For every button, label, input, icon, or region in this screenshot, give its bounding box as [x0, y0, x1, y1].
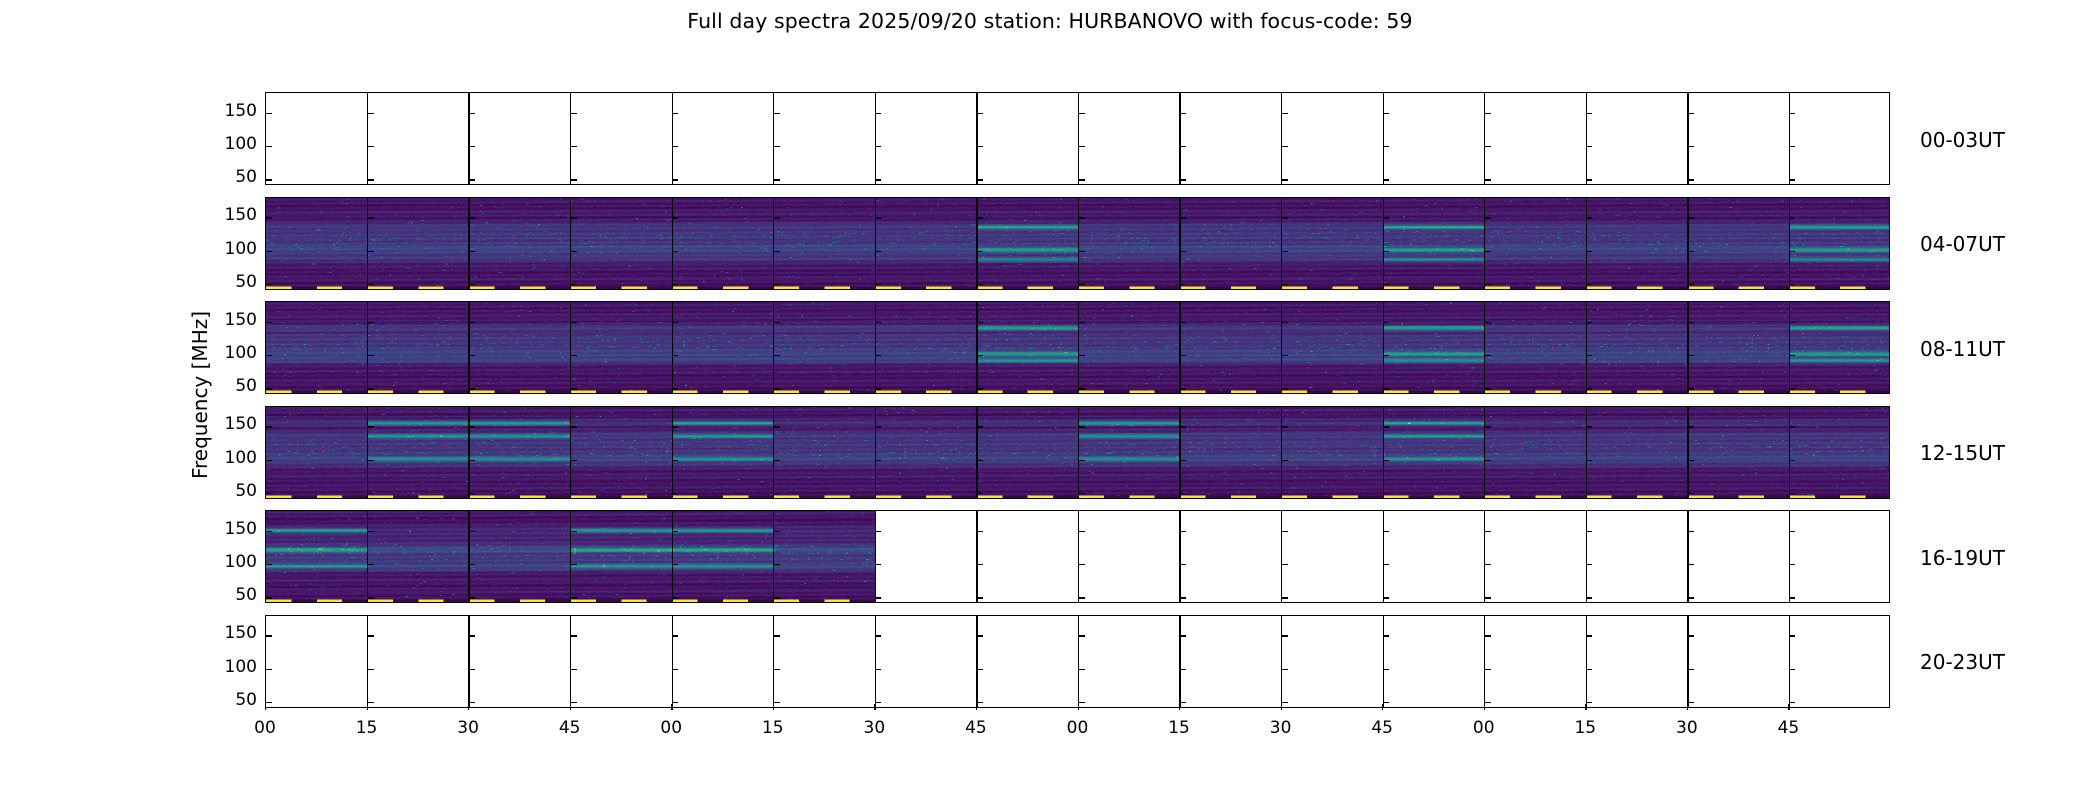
column-separator [1078, 93, 1079, 184]
y-tick-label: 100 [197, 659, 257, 676]
column-separator [367, 616, 368, 707]
y-tick-mark [571, 597, 577, 598]
y-tick-mark [1079, 355, 1085, 356]
y-tick-label: 50 [197, 169, 257, 186]
x-tick-label: 30 [844, 718, 904, 738]
column-separator [1179, 616, 1180, 707]
y-tick-mark [368, 388, 374, 389]
y-tick-label: 100 [197, 241, 257, 258]
y-tick-mark [1282, 635, 1288, 636]
column-separator [1383, 511, 1384, 602]
y-tick-mark [1383, 635, 1389, 636]
y-tick-mark [1079, 322, 1085, 323]
y-tick-mark [1282, 113, 1288, 114]
y-tick-label: 100 [197, 450, 257, 467]
x-tick-label: 15 [337, 718, 397, 738]
y-tick-mark [1586, 388, 1592, 389]
y-tick-mark [1079, 564, 1085, 565]
y-tick-mark [1383, 355, 1389, 356]
y-tick-mark [672, 702, 678, 703]
column-separator [468, 616, 469, 707]
y-tick-mark [1485, 426, 1491, 427]
y-tick-mark [1180, 564, 1186, 565]
y-tick-mark [875, 217, 881, 218]
y-tick-mark [1688, 702, 1694, 703]
y-tick-mark [1079, 388, 1085, 389]
y-tick-mark [1180, 322, 1186, 323]
y-tick-mark [1383, 531, 1389, 532]
column-separator [976, 616, 977, 707]
y-tick-mark [1789, 493, 1795, 494]
y-tick-mark [1789, 426, 1795, 427]
y-tick-mark [469, 251, 475, 252]
column-separator [1078, 616, 1079, 707]
y-tick-mark [1180, 531, 1186, 532]
y-tick-mark [1789, 284, 1795, 285]
y-tick-label: 50 [197, 274, 257, 291]
y-tick-mark [1688, 597, 1694, 598]
x-tick-mark [1585, 704, 1586, 710]
spectrogram-row-20-23ut [265, 615, 1890, 708]
y-tick-mark [1586, 217, 1592, 218]
y-tick-mark [1586, 702, 1592, 703]
y-tick-mark [977, 597, 983, 598]
y-tick-mark [1282, 669, 1288, 670]
y-tick-mark [266, 493, 272, 494]
y-tick-mark [1789, 635, 1795, 636]
spectrogram-row-16-19ut [265, 510, 1890, 603]
y-tick-mark [266, 702, 272, 703]
y-tick-mark [875, 702, 881, 703]
y-tick-mark [266, 564, 272, 565]
y-tick-mark [1282, 146, 1288, 147]
y-tick-mark [1180, 251, 1186, 252]
x-tick-mark [1078, 704, 1079, 710]
y-tick-mark [1789, 597, 1795, 598]
column-separator [1383, 407, 1384, 498]
y-tick-mark [1079, 702, 1085, 703]
column-separator [1687, 407, 1688, 498]
y-tick-mark [1688, 460, 1694, 461]
y-tick-mark [672, 113, 678, 114]
y-tick-mark [469, 179, 475, 180]
y-tick-mark [1688, 179, 1694, 180]
y-tick-label: 150 [197, 625, 257, 642]
y-tick-mark [1586, 635, 1592, 636]
y-tick-mark [1282, 531, 1288, 532]
column-separator [1687, 198, 1688, 289]
y-tick-mark [1586, 564, 1592, 565]
y-tick-mark [469, 426, 475, 427]
y-tick-mark [571, 493, 577, 494]
y-tick-mark [1282, 284, 1288, 285]
column-separator [367, 302, 368, 393]
x-tick-label: 30 [1657, 718, 1717, 738]
column-separator [570, 302, 571, 393]
x-tick-mark [367, 704, 368, 710]
column-separator [367, 407, 368, 498]
x-tick-mark [671, 704, 672, 710]
y-tick-mark [672, 284, 678, 285]
y-tick-mark [1586, 493, 1592, 494]
row-label-20-23ut: 20-23UT [1920, 650, 2005, 674]
column-separator [672, 616, 673, 707]
y-tick-mark [774, 179, 780, 180]
column-separator [773, 93, 774, 184]
column-separator [1078, 302, 1079, 393]
y-tick-mark [368, 597, 374, 598]
column-separator [1484, 302, 1485, 393]
column-separator [468, 511, 469, 602]
y-tick-mark [1079, 113, 1085, 114]
column-separator [875, 93, 876, 184]
y-tick-mark [1586, 284, 1592, 285]
x-tick-label: 15 [743, 718, 803, 738]
y-tick-mark [672, 597, 678, 598]
y-tick-mark [1789, 355, 1795, 356]
column-separator [875, 407, 876, 498]
y-tick-mark [571, 322, 577, 323]
y-tick-mark [1789, 669, 1795, 670]
y-tick-mark [571, 564, 577, 565]
column-separator [570, 511, 571, 602]
y-tick-mark [774, 493, 780, 494]
column-separator [468, 198, 469, 289]
y-tick-mark [1485, 284, 1491, 285]
y-tick-mark [875, 322, 881, 323]
y-tick-mark [469, 669, 475, 670]
y-tick-mark [1180, 597, 1186, 598]
y-tick-mark [571, 635, 577, 636]
y-tick-mark [1383, 460, 1389, 461]
y-tick-mark [672, 564, 678, 565]
x-tick-mark [1484, 704, 1485, 710]
y-tick-mark [1282, 597, 1288, 598]
column-separator [1484, 407, 1485, 498]
column-separator [1383, 302, 1384, 393]
row-frame [265, 406, 1890, 499]
y-tick-mark [1079, 251, 1085, 252]
page-title: Full day spectra 2025/09/20 station: HUR… [0, 9, 2100, 33]
y-tick-mark [1383, 251, 1389, 252]
y-tick-mark [672, 388, 678, 389]
y-tick-mark [774, 426, 780, 427]
y-tick-mark [1079, 426, 1085, 427]
y-tick-mark [469, 146, 475, 147]
y-tick-mark [1485, 113, 1491, 114]
y-tick-mark [1688, 146, 1694, 147]
column-separator [1383, 198, 1384, 289]
y-tick-mark [1383, 564, 1389, 565]
y-tick-label: 150 [197, 207, 257, 224]
column-separator [367, 93, 368, 184]
y-tick-mark [571, 702, 577, 703]
y-tick-mark [1485, 702, 1491, 703]
column-separator [875, 198, 876, 289]
y-tick-mark [1079, 597, 1085, 598]
y-tick-mark [977, 217, 983, 218]
y-tick-mark [977, 635, 983, 636]
y-tick-mark [1688, 355, 1694, 356]
column-separator [1687, 302, 1688, 393]
y-tick-mark [469, 113, 475, 114]
y-tick-mark [1688, 322, 1694, 323]
y-tick-mark [469, 493, 475, 494]
y-tick-mark [368, 426, 374, 427]
y-tick-mark [368, 702, 374, 703]
column-separator [1179, 511, 1180, 602]
column-separator [1484, 93, 1485, 184]
y-tick-label: 100 [197, 554, 257, 571]
x-tick-mark [570, 704, 571, 710]
x-tick-label: 30 [1251, 718, 1311, 738]
y-tick-mark [1180, 355, 1186, 356]
y-tick-mark [1688, 251, 1694, 252]
y-tick-mark [1180, 702, 1186, 703]
y-tick-mark [1789, 179, 1795, 180]
spectrogram-row-00-03ut [265, 92, 1890, 185]
y-tick-mark [469, 597, 475, 598]
y-tick-mark [469, 322, 475, 323]
y-tick-mark [266, 388, 272, 389]
spectrogram-row-12-15ut [265, 406, 1890, 499]
y-tick-mark [1688, 669, 1694, 670]
y-tick-mark [266, 251, 272, 252]
column-separator [672, 407, 673, 498]
x-tick-label: 45 [540, 718, 600, 738]
column-separator [672, 198, 673, 289]
x-tick-label: 45 [1352, 718, 1412, 738]
y-tick-mark [266, 322, 272, 323]
y-tick-mark [977, 251, 983, 252]
column-separator [1179, 302, 1180, 393]
y-tick-mark [1079, 669, 1085, 670]
x-tick-mark [265, 704, 266, 710]
y-tick-label: 150 [197, 103, 257, 120]
column-separator [1586, 198, 1587, 289]
y-tick-mark [266, 460, 272, 461]
y-tick-mark [774, 113, 780, 114]
y-tick-mark [1383, 146, 1389, 147]
y-tick-mark [1180, 113, 1186, 114]
y-tick-mark [1688, 635, 1694, 636]
y-tick-mark [774, 702, 780, 703]
y-tick-mark [571, 388, 577, 389]
column-separator [367, 198, 368, 289]
column-separator [1687, 511, 1688, 602]
y-tick-mark [571, 284, 577, 285]
y-tick-mark [1485, 355, 1491, 356]
y-tick-mark [774, 146, 780, 147]
column-separator [570, 93, 571, 184]
column-separator [875, 302, 876, 393]
y-tick-mark [672, 179, 678, 180]
y-tick-mark [1485, 493, 1491, 494]
y-tick-mark [1180, 669, 1186, 670]
y-tick-mark [1789, 322, 1795, 323]
column-separator [1789, 616, 1790, 707]
y-tick-mark [1282, 426, 1288, 427]
y-tick-mark [1789, 460, 1795, 461]
x-tick-mark [1281, 704, 1282, 710]
y-tick-mark [368, 564, 374, 565]
y-tick-mark [1586, 113, 1592, 114]
y-tick-mark [875, 426, 881, 427]
y-tick-mark [1282, 217, 1288, 218]
y-tick-mark [1282, 179, 1288, 180]
y-tick-mark [672, 669, 678, 670]
y-tick-mark [469, 388, 475, 389]
y-tick-mark [977, 564, 983, 565]
column-separator [976, 511, 977, 602]
y-tick-mark [672, 355, 678, 356]
y-tick-mark [1688, 564, 1694, 565]
y-tick-mark [977, 322, 983, 323]
y-tick-mark [977, 493, 983, 494]
x-tick-mark [1687, 704, 1688, 710]
y-tick-label: 50 [197, 483, 257, 500]
column-separator [1586, 302, 1587, 393]
row-label-16-19ut: 16-19UT [1920, 546, 2005, 570]
y-tick-mark [672, 493, 678, 494]
y-tick-mark [469, 460, 475, 461]
y-tick-mark [469, 531, 475, 532]
row-frame [265, 615, 1890, 708]
column-separator [1586, 616, 1587, 707]
y-tick-mark [1586, 322, 1592, 323]
y-tick-mark [672, 217, 678, 218]
x-axis: 00153045001530450015304500153045 [265, 710, 1890, 712]
y-tick-mark [1180, 179, 1186, 180]
y-tick-mark [1586, 531, 1592, 532]
y-tick-mark [469, 635, 475, 636]
column-separator [773, 407, 774, 498]
spectrogram-row-08-11ut [265, 301, 1890, 394]
y-tick-mark [774, 217, 780, 218]
column-separator [1586, 511, 1587, 602]
y-tick-mark [266, 113, 272, 114]
column-separator [570, 616, 571, 707]
y-tick-label: 150 [197, 521, 257, 538]
y-tick-mark [1485, 388, 1491, 389]
plot-area [265, 92, 1890, 710]
y-tick-mark [571, 146, 577, 147]
y-tick-mark [1688, 217, 1694, 218]
y-tick-mark [571, 355, 577, 356]
y-tick-mark [1383, 426, 1389, 427]
x-tick-label: 45 [946, 718, 1006, 738]
y-tick-mark [1282, 388, 1288, 389]
column-separator [1078, 198, 1079, 289]
y-tick-mark [672, 531, 678, 532]
row-label-08-11ut: 08-11UT [1920, 337, 2005, 361]
y-tick-mark [1789, 564, 1795, 565]
column-separator [976, 198, 977, 289]
y-tick-mark [368, 217, 374, 218]
column-separator [468, 302, 469, 393]
y-tick-mark [368, 113, 374, 114]
column-separator [875, 616, 876, 707]
y-tick-mark [1688, 531, 1694, 532]
column-separator [672, 302, 673, 393]
y-tick-mark [1383, 388, 1389, 389]
y-tick-mark [1789, 251, 1795, 252]
y-tick-mark [368, 251, 374, 252]
y-tick-mark [977, 355, 983, 356]
y-tick-mark [1485, 251, 1491, 252]
y-tick-mark [571, 251, 577, 252]
y-tick-label-column: 1501005015010050150100501501005015010050… [195, 92, 257, 710]
spectra-figure: Full day spectra 2025/09/20 station: HUR… [0, 0, 2100, 800]
y-tick-mark [1180, 426, 1186, 427]
y-tick-label: 50 [197, 692, 257, 709]
y-tick-mark [875, 388, 881, 389]
y-tick-mark [672, 635, 678, 636]
row-frame [265, 197, 1890, 290]
y-tick-mark [977, 531, 983, 532]
y-tick-mark [977, 460, 983, 461]
y-tick-mark [1180, 493, 1186, 494]
y-tick-mark [1383, 179, 1389, 180]
y-tick-mark [1485, 531, 1491, 532]
y-tick-mark [368, 179, 374, 180]
y-tick-mark [1282, 564, 1288, 565]
x-tick-mark [1179, 704, 1180, 710]
column-separator [875, 511, 876, 602]
y-tick-mark [1383, 322, 1389, 323]
x-tick-mark [773, 704, 774, 710]
column-separator [773, 511, 774, 602]
y-tick-mark [1180, 146, 1186, 147]
y-tick-mark [368, 635, 374, 636]
y-tick-label: 100 [197, 136, 257, 153]
y-tick-mark [977, 702, 983, 703]
column-separator [1789, 93, 1790, 184]
column-separator [570, 407, 571, 498]
column-separator [1484, 511, 1485, 602]
y-tick-mark [1383, 493, 1389, 494]
y-tick-mark [774, 322, 780, 323]
x-tick-label: 15 [1555, 718, 1615, 738]
y-tick-mark [875, 564, 881, 565]
x-tick-mark [468, 704, 469, 710]
column-separator [672, 93, 673, 184]
y-tick-mark [1079, 217, 1085, 218]
y-tick-mark [1079, 179, 1085, 180]
y-tick-mark [977, 179, 983, 180]
y-tick-mark [469, 284, 475, 285]
y-tick-mark [469, 702, 475, 703]
y-tick-mark [469, 217, 475, 218]
column-separator [1687, 93, 1688, 184]
y-tick-mark [774, 635, 780, 636]
x-tick-label: 00 [641, 718, 701, 738]
y-tick-mark [1688, 284, 1694, 285]
column-separator [468, 93, 469, 184]
row-label-12-15ut: 12-15UT [1920, 441, 2005, 465]
y-tick-mark [875, 493, 881, 494]
y-tick-mark [571, 531, 577, 532]
y-tick-mark [977, 426, 983, 427]
y-tick-mark [672, 460, 678, 461]
y-tick-mark [1383, 113, 1389, 114]
y-tick-mark [774, 597, 780, 598]
y-tick-mark [571, 179, 577, 180]
y-tick-mark [774, 251, 780, 252]
column-separator [1687, 616, 1688, 707]
row-frame [265, 301, 1890, 394]
y-tick-mark [875, 531, 881, 532]
